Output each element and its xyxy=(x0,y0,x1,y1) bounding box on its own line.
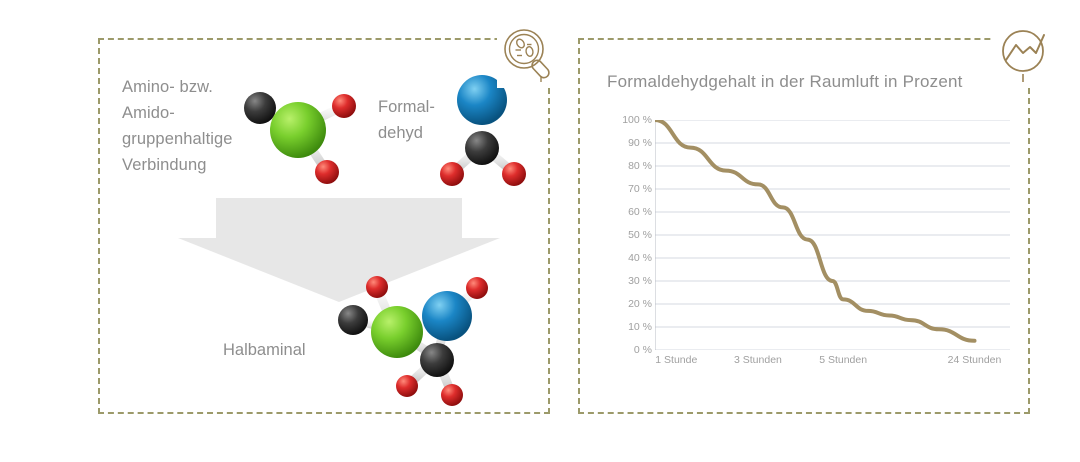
plot-area xyxy=(655,120,1010,350)
y-axis-tick-label: 10 % xyxy=(606,321,652,333)
oxygen-atom xyxy=(440,162,464,186)
y-axis-tick-label: 30 % xyxy=(606,275,652,287)
carbon-atom xyxy=(465,131,499,165)
oxygen-atom xyxy=(466,277,488,299)
magnifier-molecule-icon xyxy=(501,26,559,84)
amino-group-atom xyxy=(270,102,326,158)
chart-icon-container xyxy=(992,22,1058,88)
y-axis: 100 %90 %80 %70 %60 %50 %40 %30 %20 %10 … xyxy=(600,120,652,375)
amino-compound-molecule xyxy=(232,76,372,196)
x-axis-tick-label: 5 Stunden xyxy=(819,354,867,366)
line-chart: 100 %90 %80 %70 %60 %50 %40 %30 %20 %10 … xyxy=(600,120,1010,375)
chart-title: Formaldehydgehalt in der Raumluft in Pro… xyxy=(607,72,963,92)
carbon-atom xyxy=(338,305,368,335)
halbaminal-molecule xyxy=(325,272,505,407)
y-axis-tick-label: 80 % xyxy=(606,160,652,172)
y-axis-tick-label: 60 % xyxy=(606,206,652,218)
y-axis-tick-label: 100 % xyxy=(606,114,652,126)
carbon-atom xyxy=(420,343,454,377)
y-axis-tick-label: 50 % xyxy=(606,229,652,241)
oxygen-atom xyxy=(441,384,463,406)
y-axis-tick-label: 70 % xyxy=(606,183,652,195)
magnifier-icon-container xyxy=(497,22,563,88)
y-axis-tick-label: 0 % xyxy=(606,344,652,356)
y-axis-tick-label: 90 % xyxy=(606,137,652,149)
oxygen-atom xyxy=(332,94,356,118)
oxygen-atom xyxy=(502,162,526,186)
x-axis-tick-label: 3 Stunden xyxy=(734,354,782,366)
y-axis-tick-label: 40 % xyxy=(606,252,652,264)
chart-plot-svg xyxy=(655,120,1010,350)
line-chart-circle-icon xyxy=(998,26,1052,84)
chart-line-series xyxy=(655,120,975,341)
x-axis-tick-label: 1 Stunde xyxy=(655,354,697,366)
carbon-atom xyxy=(244,92,276,124)
amino-group-atom xyxy=(371,306,423,358)
nitrogen-atom xyxy=(422,291,472,341)
oxygen-atom xyxy=(315,160,339,184)
product-label: Halbaminal xyxy=(223,337,306,363)
y-axis-tick-label: 20 % xyxy=(606,298,652,310)
oxygen-atom xyxy=(396,375,418,397)
x-axis-tick-label: 24 Stunden xyxy=(948,354,1002,366)
oxygen-atom xyxy=(366,276,388,298)
